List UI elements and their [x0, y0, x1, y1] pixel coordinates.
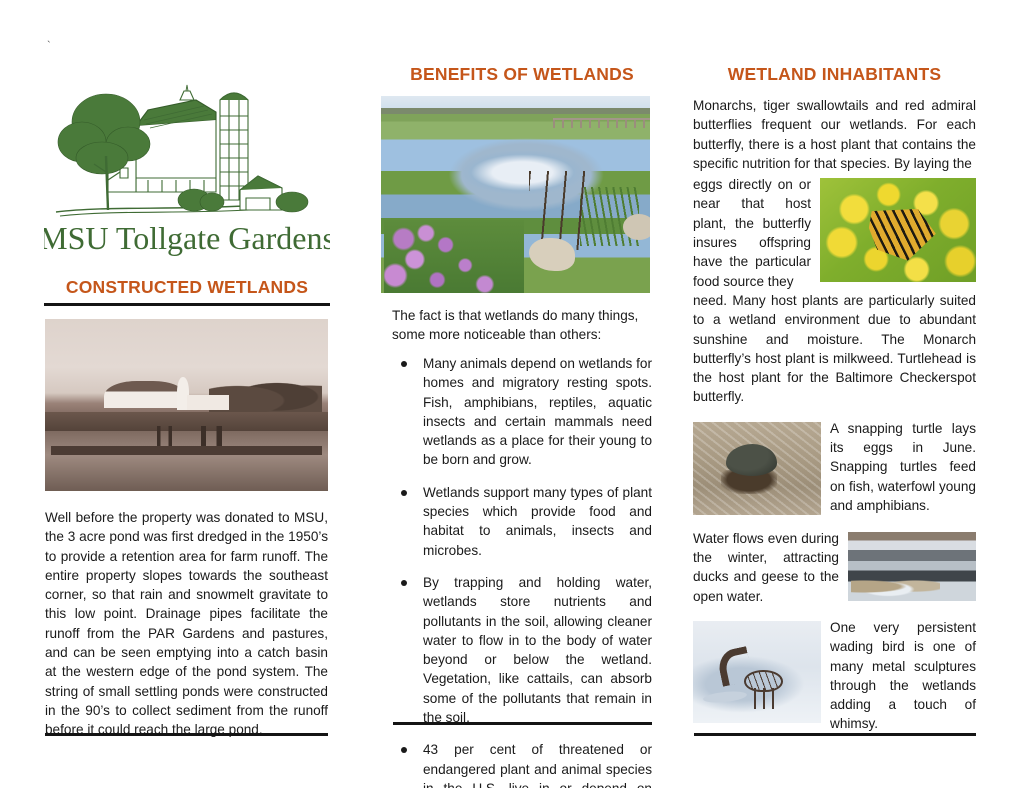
- winter-open-water-photo: [848, 532, 976, 601]
- sculpture-bird-legs: [754, 688, 774, 708]
- metal-wading-bird-sculpture-photo: [693, 621, 821, 723]
- inhabitants-paragraph-1: Monarchs, tiger swallowtails and red adm…: [693, 96, 976, 173]
- turtle-shell: [726, 444, 777, 476]
- divider-right-bottom: [694, 733, 976, 736]
- page-title-constructed-wetlands: CONSTRUCTED WETLANDS: [44, 277, 330, 298]
- page-title-benefits-of-wetlands: BENEFITS OF WETLANDS: [392, 64, 652, 85]
- benefits-intro-text: The fact is that wetlands do many things…: [392, 306, 652, 345]
- photo-far-treeline: [381, 108, 650, 114]
- turtle-block: A snapping turtle lays its eggs in June.…: [693, 419, 976, 519]
- brochure-page: `: [0, 0, 1020, 788]
- photo-barn: [104, 381, 186, 409]
- sculpture-shadow: [703, 690, 747, 705]
- left-column-body: Well before the property was donated to …: [45, 508, 328, 740]
- list-item: By trapping and holding water, wetlands …: [392, 573, 652, 727]
- photo-fence: [553, 118, 650, 128]
- constructed-wetland-pond-photo: [381, 96, 650, 293]
- msu-tollgate-gardens-logo: MSU Tollgate Gardens: [44, 60, 330, 272]
- list-item: 43 per cent of threatened or endangered …: [392, 740, 652, 788]
- photo-rock-secondary: [623, 214, 650, 240]
- photo-house: [187, 395, 229, 410]
- photo-rock: [529, 238, 575, 271]
- butterfly-wings: [866, 203, 938, 266]
- winter-stones: [851, 575, 941, 598]
- photo-purple-flowers: [384, 220, 524, 293]
- page-title-wetland-inhabitants: WETLAND INHABITANTS: [693, 64, 976, 85]
- photo-dock: [51, 446, 323, 455]
- butterfly-block: eggs directly on or near that host plant…: [693, 175, 976, 291]
- snapping-turtle-photo: [693, 422, 821, 515]
- divider-left-bottom: [45, 733, 328, 736]
- tiger-swallowtail-butterfly-photo: [820, 178, 976, 282]
- sculpture-block: One very persistent wading bird is one o…: [693, 618, 976, 734]
- svg-text:MSU Tollgate Gardens: MSU Tollgate Gardens: [44, 220, 330, 256]
- list-item: Many animals depend on wetlands for home…: [392, 354, 652, 470]
- inhabitants-paragraph-3: need. Many host plants are particularly …: [693, 291, 976, 407]
- historic-farm-pond-photo: [45, 319, 328, 491]
- divider-left-top: [44, 303, 330, 306]
- right-column-flow: Monarchs, tiger swallowtails and red adm…: [693, 96, 976, 734]
- divider-middle-bottom: [393, 722, 652, 725]
- list-item: Wetlands support many types of plant spe…: [392, 483, 652, 560]
- winter-block: Water flows even during the winter, attr…: [693, 529, 976, 606]
- stray-mark: `: [47, 41, 51, 52]
